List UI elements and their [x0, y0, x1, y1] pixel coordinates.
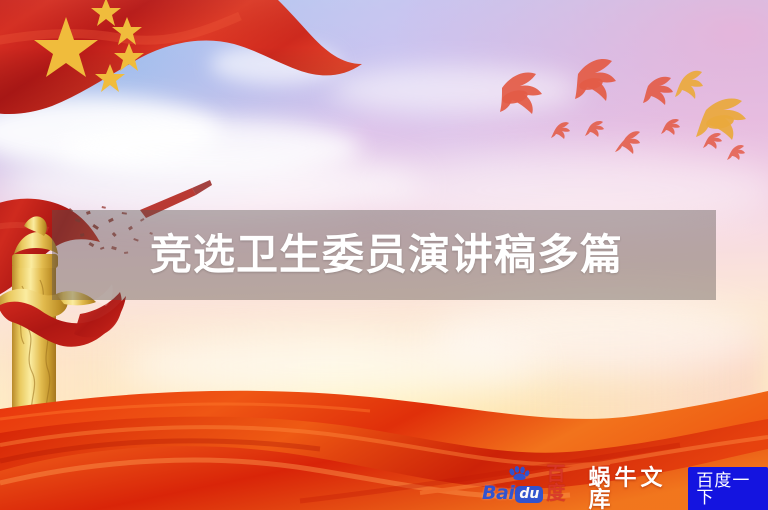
baidu-logo[interactable]: Bai du 百度	[482, 477, 572, 503]
site-name-label: 蜗牛文库	[588, 468, 680, 510]
baidu-search-button[interactable]: 百度一下	[688, 467, 768, 510]
baidu-bai-text: Bai	[482, 484, 514, 503]
chinese-national-flag	[0, 0, 410, 186]
poster-canvas: 竞选卫生委员演讲稿多篇 Bai du 百度 蜗牛文库 百度一下	[0, 0, 768, 510]
paw-print-icon	[508, 466, 530, 480]
page-title: 竞选卫生委员演讲稿多篇	[150, 234, 623, 276]
flying-doves-flock	[480, 44, 768, 164]
baidu-du-badge: du	[515, 486, 543, 503]
baidu-chinese-text: 百度	[546, 465, 572, 503]
watermark-bar: Bai du 百度 蜗牛文库 百度一下	[482, 474, 768, 506]
title-banner: 竞选卫生委员演讲稿多篇	[52, 210, 716, 300]
